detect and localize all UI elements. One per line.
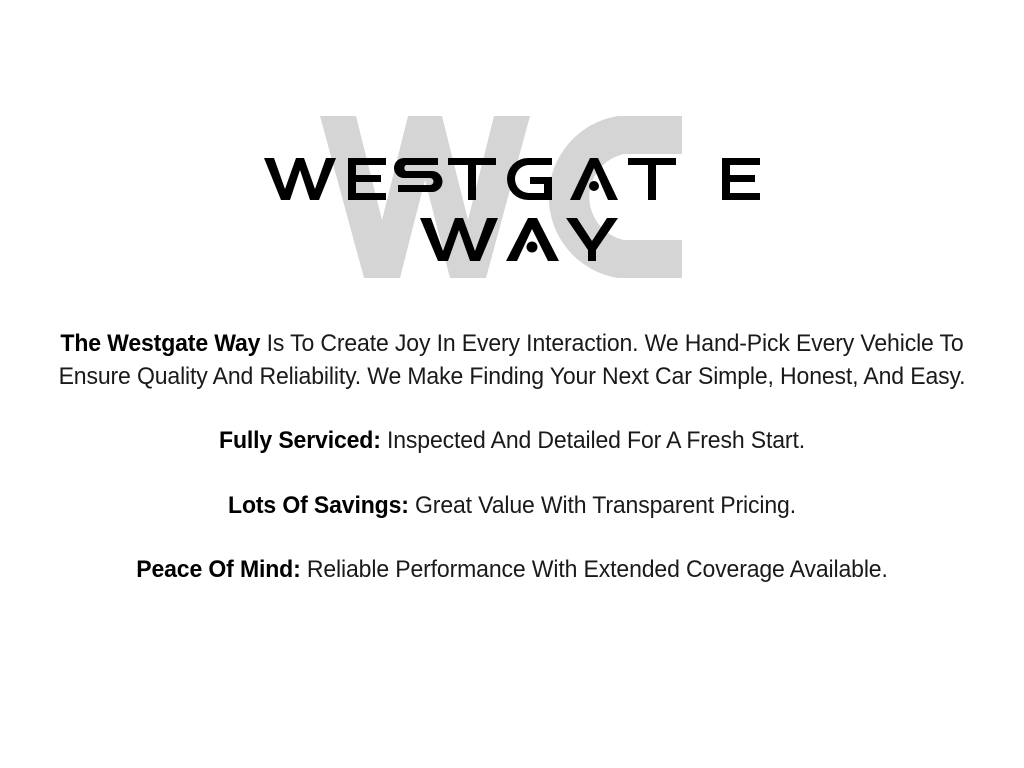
intro-lead: The Westgate Way	[60, 330, 260, 357]
point-description: Reliable Performance With Extended Cover…	[301, 556, 888, 583]
point-term: Fully Serviced:	[219, 427, 381, 454]
point-peace-of-mind: Peace Of Mind: Reliable Performance With…	[48, 554, 977, 587]
point-description: Great Value With Transparent Pricing.	[409, 492, 796, 519]
body-copy: The Westgate Way Is To Create Joy In Eve…	[0, 328, 1024, 587]
point-term: Lots Of Savings:	[228, 492, 409, 519]
intro-paragraph: The Westgate Way Is To Create Joy In Eve…	[48, 328, 977, 393]
brand-logo	[0, 100, 1024, 290]
slide-canvas: The Westgate Way Is To Create Joy In Eve…	[0, 0, 1024, 768]
point-fully-serviced: Fully Serviced: Inspected And Detailed F…	[48, 425, 977, 458]
point-lots-of-savings: Lots Of Savings: Great Value With Transp…	[48, 490, 977, 523]
point-description: Inspected And Detailed For A Fresh Start…	[381, 427, 805, 454]
logo-svg	[252, 100, 772, 290]
point-term: Peace Of Mind:	[136, 556, 300, 583]
